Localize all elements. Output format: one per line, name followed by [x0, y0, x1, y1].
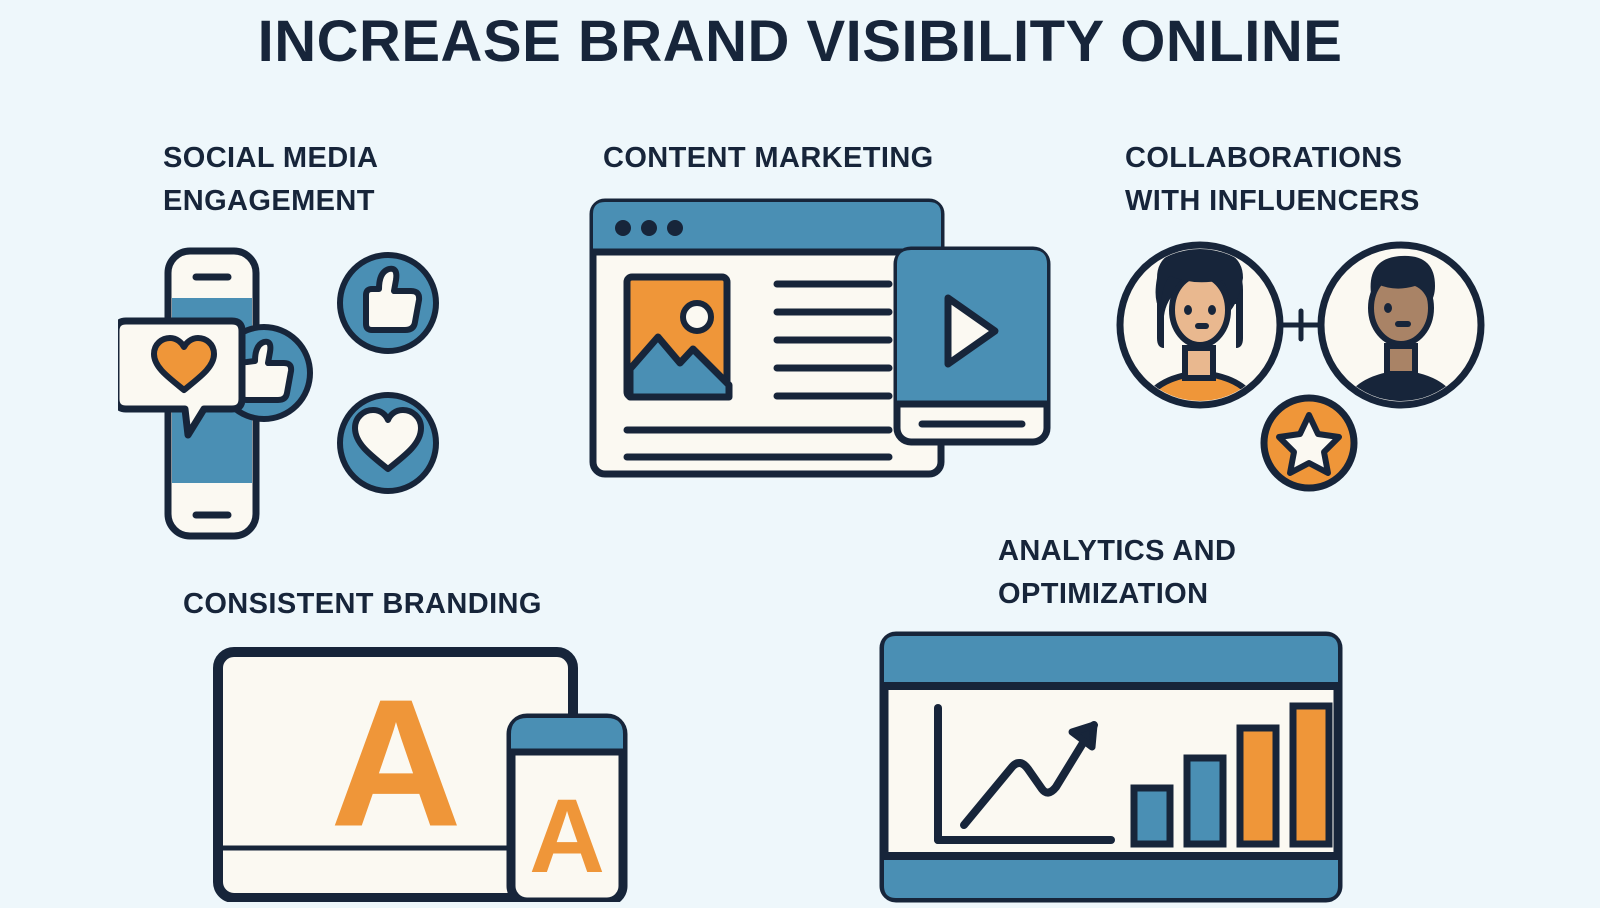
section-title-content-marketing: CONTENT MARKETING [603, 137, 1063, 180]
section-title-line-1: CONTENT MARKETING [603, 137, 1063, 180]
bar-3 [1240, 728, 1276, 844]
image-placeholder-icon [627, 277, 729, 397]
section-title-line-2: OPTIMIZATION [998, 573, 1338, 616]
section-title-line-2: ENGAGEMENT [163, 180, 583, 223]
page-title: INCREASE BRAND VISIBILITY ONLINE [0, 8, 1600, 75]
infographic-canvas: INCREASE BRAND VISIBILITY ONLINE SOCIAL … [0, 0, 1600, 900]
illustration-collaborations-with-influencers [1085, 238, 1495, 493]
section-title-line-1: ANALYTICS AND [998, 530, 1338, 573]
video-play-icon [897, 250, 1047, 442]
section-title-consistent-branding: CONSISTENT BRANDING [183, 583, 663, 626]
section-title-collaborations-with-influencers: COLLABORATIONS WITH INFLUENCERS [1125, 137, 1525, 223]
illustration-analytics-and-optimization [876, 628, 1346, 903]
star-badge-icon [1264, 398, 1354, 488]
smartphone-icon: A [511, 718, 623, 902]
avatar-woman-icon [1120, 245, 1280, 413]
section-title-line-2: WITH INFLUENCERS [1125, 180, 1525, 223]
thumbs-up-badge-icon [340, 255, 436, 351]
avatar-man-icon [1321, 245, 1481, 415]
illustration-content-marketing [585, 192, 1065, 492]
illustration-consistent-branding: A A [208, 640, 668, 902]
bar-2 [1187, 758, 1223, 844]
window-dot-icon [615, 220, 631, 236]
bar-1 [1134, 788, 1170, 844]
bar-4 [1293, 706, 1329, 844]
illustration-social-media-engagement [118, 243, 518, 543]
section-title-analytics-and-optimization: ANALYTICS AND OPTIMIZATION [998, 530, 1338, 616]
section-title-line-1: CONSISTENT BRANDING [183, 583, 663, 626]
window-dot-icon [641, 220, 657, 236]
heart-badge-icon [340, 395, 436, 491]
section-title-social-media-engagement: SOCIAL MEDIA ENGAGEMENT [163, 137, 583, 223]
brand-letter-small: A [529, 778, 605, 895]
window-dot-icon [667, 220, 683, 236]
section-title-line-1: COLLABORATIONS [1125, 137, 1525, 180]
section-title-line-1: SOCIAL MEDIA [163, 137, 583, 180]
brand-letter-large: A [331, 663, 461, 864]
